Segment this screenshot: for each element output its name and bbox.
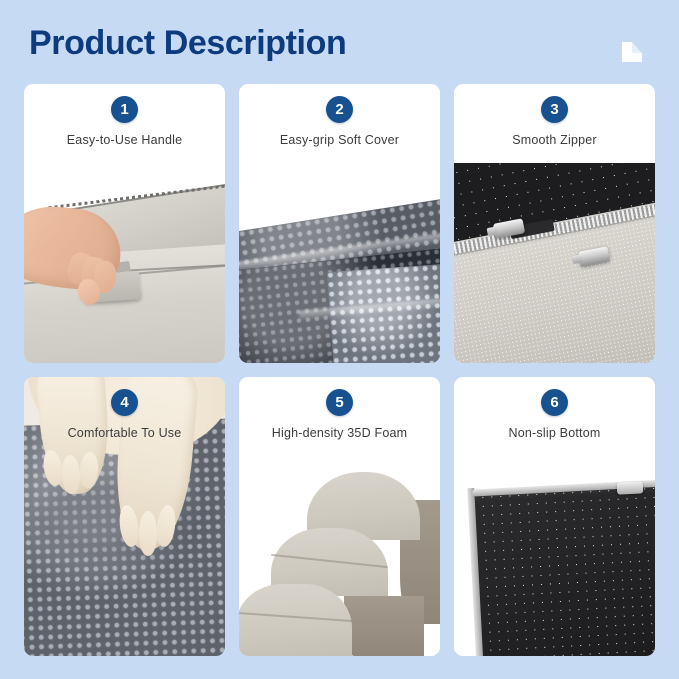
card-header-5: 5 High-density 35D Foam bbox=[239, 377, 440, 456]
card-photo-easy-to-use-handle bbox=[24, 163, 225, 363]
card-label-3: Smooth Zipper bbox=[512, 133, 597, 147]
card-label-5: High-density 35D Foam bbox=[272, 426, 408, 440]
badge-number-3: 3 bbox=[541, 96, 568, 123]
feature-card-1[interactable]: 1 Easy-to-Use Handle bbox=[24, 84, 225, 363]
page-fold-icon bbox=[619, 41, 643, 63]
badge-number-1: 1 bbox=[111, 96, 138, 123]
badge-number-5: 5 bbox=[326, 389, 353, 416]
badge-number-4: 4 bbox=[111, 389, 138, 416]
card-header-4: 4 Comfortable To Use bbox=[24, 377, 225, 456]
card-label-1: Easy-to-Use Handle bbox=[67, 133, 182, 147]
feature-card-4[interactable]: 4 Comfortable To Use bbox=[24, 377, 225, 656]
badge-number-2: 2 bbox=[326, 96, 353, 123]
card-header-2: 2 Easy-grip Soft Cover bbox=[239, 84, 440, 163]
card-label-4: Comfortable To Use bbox=[68, 426, 182, 440]
feature-card-3[interactable]: 3 Smooth Zipper bbox=[454, 84, 655, 363]
card-header-1: 1 Easy-to-Use Handle bbox=[24, 84, 225, 163]
feature-card-6[interactable]: 6 Non-slip Bottom bbox=[454, 377, 655, 656]
feature-card-5[interactable]: 5 High-density 35D Foam bbox=[239, 377, 440, 656]
feature-card-grid: 1 Easy-to-Use Handle 2 Easy-grip Soft Co… bbox=[24, 84, 655, 656]
card-photo-non-slip-bottom bbox=[454, 456, 655, 656]
page-title: Product Description bbox=[29, 24, 346, 63]
page-header: Product Description bbox=[0, 0, 679, 84]
card-label-2: Easy-grip Soft Cover bbox=[280, 133, 399, 147]
badge-number-6: 6 bbox=[541, 389, 568, 416]
card-header-3: 3 Smooth Zipper bbox=[454, 84, 655, 163]
card-header-6: 6 Non-slip Bottom bbox=[454, 377, 655, 456]
card-label-6: Non-slip Bottom bbox=[509, 426, 601, 440]
card-photo-high-density-foam bbox=[239, 456, 440, 656]
feature-card-2[interactable]: 2 Easy-grip Soft Cover bbox=[239, 84, 440, 363]
card-photo-smooth-zipper bbox=[454, 163, 655, 363]
card-photo-easy-grip-soft-cover bbox=[239, 163, 440, 363]
